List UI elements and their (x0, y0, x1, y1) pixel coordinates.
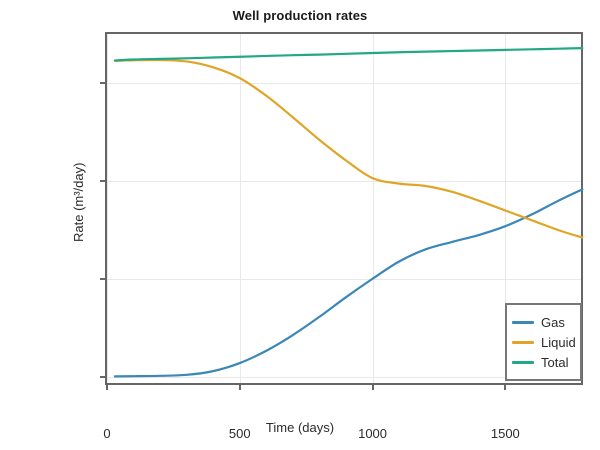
legend-swatch-liquid-icon (512, 341, 534, 344)
chart-title: Well production rates (0, 8, 600, 23)
legend-label: Gas (541, 315, 565, 330)
legend-label: Liquid (541, 335, 576, 350)
series-line-liquid (115, 60, 582, 238)
y-tick-mark (100, 278, 107, 280)
legend-label: Total (541, 355, 568, 370)
chart-legend[interactable]: GasLiquidTotal (505, 303, 582, 381)
legend-item-gas[interactable]: Gas (512, 312, 574, 332)
y-axis-title: Rate (m³/day) (71, 163, 86, 242)
y-tick-mark (100, 180, 107, 182)
legend-item-total[interactable]: Total (512, 352, 574, 372)
legend-item-liquid[interactable]: Liquid (512, 332, 574, 352)
x-axis-title: Time (days) (0, 420, 600, 435)
chart-figure: Well production rates 05.00×10³1.00×10⁴1… (0, 0, 600, 450)
series-line-total (115, 48, 582, 60)
legend-swatch-gas-icon (512, 321, 534, 324)
legend-swatch-total-icon (512, 361, 534, 364)
y-tick-mark (100, 82, 107, 84)
y-tick-mark (100, 376, 107, 378)
